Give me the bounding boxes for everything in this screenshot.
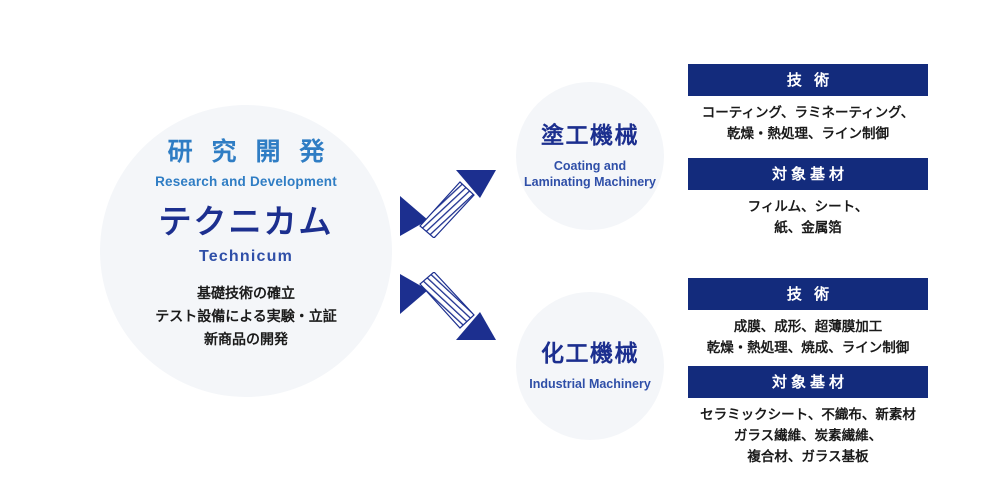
research-development-circle: 研 究 開 発 Research and Development テクニカム T… bbox=[100, 105, 392, 397]
panel-body: セラミックシート、不織布、新素材 ガラス繊維、炭素繊維、 複合材、ガラス基板 bbox=[688, 398, 928, 468]
node-title-en-line1: Coating and bbox=[524, 158, 656, 174]
technicum-description-line: テスト設備による実験・立証 bbox=[155, 305, 337, 328]
technicum-title-jp: テクニカム bbox=[159, 205, 334, 238]
node-title-jp: 化工機械 bbox=[541, 340, 639, 366]
panel-body-line: 乾燥・熱処理、ライン制御 bbox=[688, 124, 928, 145]
panel-header: 対象基材 bbox=[688, 366, 928, 398]
panel-body-line: 紙、金属箔 bbox=[688, 218, 928, 239]
arrow-up-icon bbox=[398, 168, 498, 243]
panel-body: コーティング、ラミネーティング、 乾燥・熱処理、ライン制御 bbox=[688, 96, 928, 145]
panel-coating-substrates: 対象基材 フィルム、シート、 紙、金属箔 bbox=[688, 158, 928, 239]
panel-header: 技 術 bbox=[688, 278, 928, 310]
node-title-en-line2: Laminating Machinery bbox=[524, 174, 656, 190]
panel-body: フィルム、シート、 紙、金属箔 bbox=[688, 190, 928, 239]
technicum-title-en: Technicum bbox=[199, 248, 293, 266]
node-coating-machinery: 塗工機械 Coating and Laminating Machinery bbox=[516, 82, 664, 230]
panel-body-line: 複合材、ガラス基板 bbox=[688, 447, 928, 468]
node-industrial-machinery: 化工機械 Industrial Machinery bbox=[516, 292, 664, 440]
panel-body-line: 成膜、成形、超薄膜加工 bbox=[688, 317, 928, 338]
panel-header: 技 術 bbox=[688, 64, 928, 96]
panel-industrial-substrates: 対象基材 セラミックシート、不織布、新素材 ガラス繊維、炭素繊維、 複合材、ガラ… bbox=[688, 366, 928, 468]
diagram-canvas: 研 究 開 発 Research and Development テクニカム T… bbox=[0, 0, 1000, 486]
node-title-en: Coating and Laminating Machinery bbox=[524, 158, 656, 190]
node-title-en-line1: Industrial Machinery bbox=[529, 376, 651, 392]
node-title-en: Industrial Machinery bbox=[529, 376, 651, 392]
panel-body-line: コーティング、ラミネーティング、 bbox=[688, 103, 928, 124]
panel-coating-technology: 技 術 コーティング、ラミネーティング、 乾燥・熱処理、ライン制御 bbox=[688, 64, 928, 145]
panel-body-line: 乾燥・熱処理、焼成、ライン制御 bbox=[688, 338, 928, 359]
technicum-description-line: 新商品の開発 bbox=[155, 328, 337, 351]
arrow-down-icon bbox=[398, 272, 498, 347]
panel-body-line: フィルム、シート、 bbox=[688, 197, 928, 218]
node-title-jp: 塗工機械 bbox=[541, 122, 639, 148]
panel-body: 成膜、成形、超薄膜加工 乾燥・熱処理、焼成、ライン制御 bbox=[688, 310, 928, 359]
panel-industrial-technology: 技 術 成膜、成形、超薄膜加工 乾燥・熱処理、焼成、ライン制御 bbox=[688, 278, 928, 359]
technicum-description-line: 基礎技術の確立 bbox=[155, 282, 337, 305]
panel-header: 対象基材 bbox=[688, 158, 928, 190]
technicum-description: 基礎技術の確立 テスト設備による実験・立証 新商品の開発 bbox=[155, 282, 337, 351]
rd-title-en: Research and Development bbox=[155, 174, 337, 189]
rd-title-jp: 研 究 開 発 bbox=[162, 139, 331, 167]
panel-body-line: セラミックシート、不織布、新素材 bbox=[688, 405, 928, 426]
panel-body-line: ガラス繊維、炭素繊維、 bbox=[688, 426, 928, 447]
